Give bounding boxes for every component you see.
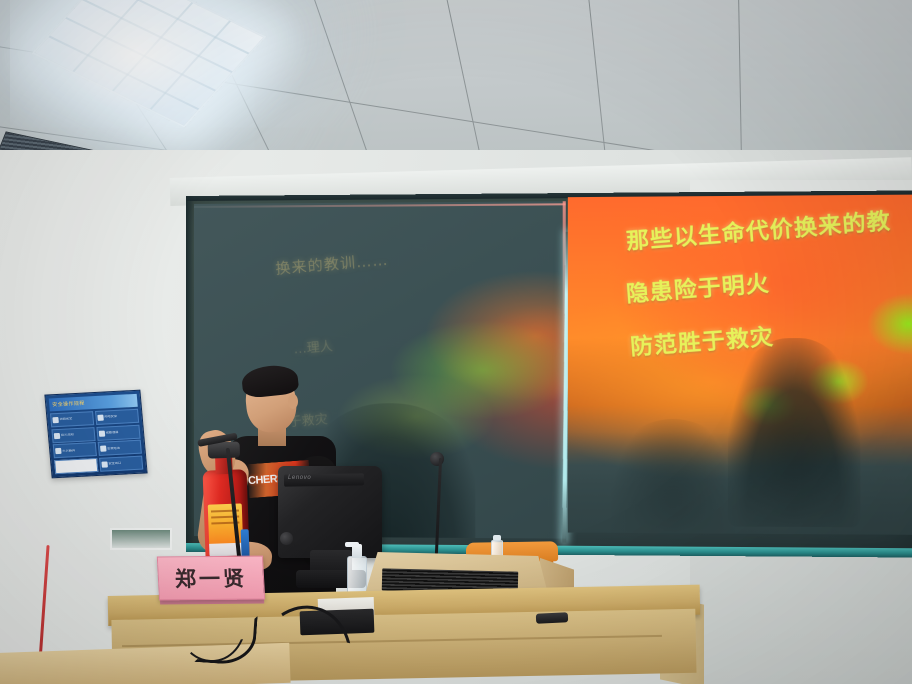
- poster-item-icon: [54, 433, 61, 439]
- name-placard-text: 郑一贤: [174, 563, 248, 594]
- poster-item-icon: [97, 415, 104, 421]
- poster-item-icon: [100, 446, 107, 452]
- poster-header-text: 安全操作规程: [52, 400, 85, 409]
- hand-sanitizer-bottle: [347, 540, 367, 598]
- poster-item-icon: [55, 448, 62, 454]
- classroom-photo-scene: 安全操作规程 消防安全 用电安全 防火须知 疏散通道 灭火器具 急救电话 安全出…: [0, 0, 912, 684]
- presenter-ear: [288, 394, 298, 409]
- projection-right-line-2: 隐患险于明火: [625, 265, 771, 308]
- fire-extinguisher: [202, 451, 250, 572]
- window-frame: [110, 528, 172, 550]
- poster-cell: 用电安全: [95, 409, 139, 425]
- poster-cell: 灭火器具: [53, 442, 97, 458]
- name-placard: 郑一贤: [157, 556, 265, 601]
- safety-poster: 安全操作规程 消防安全 用电安全 防火须知 疏散通道 灭火器具 急救电话 安全出…: [44, 390, 147, 479]
- poster-cell: 消防安全: [50, 411, 94, 427]
- poster-cell: 疏散通道: [96, 424, 140, 440]
- fluorescent-panel-light: [32, 0, 267, 128]
- projection-left-line-1: 换来的教训……: [274, 248, 389, 278]
- monitor-knob: [280, 532, 293, 545]
- poster-cell: 急救电话: [97, 440, 141, 456]
- sanitizer-nozzle: [345, 542, 359, 547]
- poster-cell: [54, 458, 98, 474]
- projection-bottom-fade: [568, 432, 912, 535]
- projection-left-border: [194, 203, 566, 208]
- poster-cell: 安全出口: [99, 455, 143, 471]
- poster-item-icon: [52, 417, 59, 423]
- board-left-edge: [186, 196, 194, 552]
- projection-right-line-1: 那些以生命代价换来的教: [625, 202, 892, 255]
- poster-item-icon: [98, 430, 105, 436]
- remote-control: [536, 612, 568, 624]
- projection-left-line-2: …理人: [293, 335, 334, 357]
- projection-right: 那些以生命代价换来的教 隐患险于明火 防范胜于救灾: [568, 194, 912, 535]
- poster-item-icon: [101, 461, 108, 467]
- monitor-brand-label: Lenovo: [288, 475, 311, 481]
- poster-grid: 消防安全 用电安全 防火须知 疏散通道 灭火器具 急救电话 安全出口: [50, 409, 143, 474]
- poster-cell: 防火须知: [51, 427, 95, 443]
